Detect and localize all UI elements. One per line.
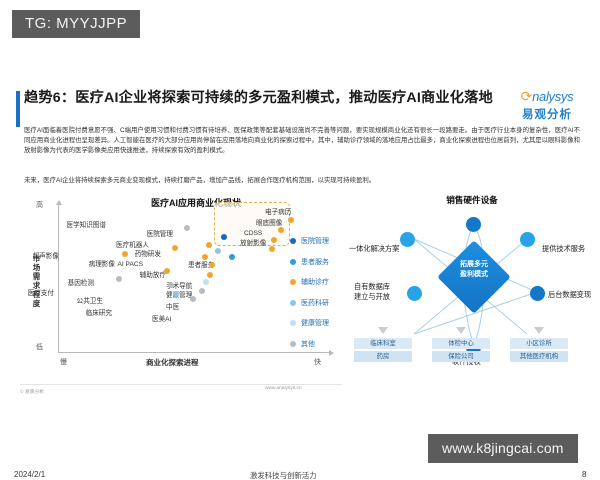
node-tech-service[interactable] (520, 232, 535, 247)
legend-swatch-icon (290, 341, 296, 347)
scatter-point-label: 放射影像 (240, 240, 266, 247)
target-box-2-top[interactable]: 体检中心 (432, 338, 490, 349)
target-box-2-bottom[interactable]: 保险公司 (432, 351, 490, 362)
arrow-down-icon-2 (456, 327, 466, 334)
legend-label: 患者服务 (301, 257, 329, 267)
label-backend-data: 后台数据变现 (548, 290, 591, 299)
target-box-3-top[interactable]: 小区诊所 (510, 338, 568, 349)
chart-divider-rule (20, 384, 342, 385)
scatter-point-label: 超声影像 (18, 253, 59, 260)
x-axis-label: 商业化探索进程 (146, 357, 199, 368)
legend-swatch-icon (290, 238, 296, 244)
center-label-line1: 拓展多元 (448, 260, 500, 270)
center-diamond-label: 拓展多元 盈利模式 (448, 260, 500, 280)
profit-model-diagram: 销售硬件设备 拓展多元 盈利模式 提供技术服务 后台数据变现 软件授权 一体化解… (352, 194, 592, 384)
scatter-point-label: 医院管理 (18, 231, 173, 238)
scatter-point[interactable] (269, 246, 275, 252)
scatter-point[interactable] (207, 272, 213, 278)
legend-item[interactable]: 辅助诊疗 (290, 277, 329, 287)
body-paragraph-1: 医疗AI面临着医院付费意愿不强、C端用户使用习惯和付费习惯有待培养、医保政策等配… (24, 126, 580, 157)
analysys-logo: ⟳nalysys 易观分析 (505, 88, 589, 122)
scatter-point[interactable] (116, 276, 122, 282)
scatter-point-label: 眼底图像 (256, 220, 282, 227)
target-box-1-bottom[interactable]: 药房 (354, 351, 412, 362)
tg-watermark-banner: TG: MYYJJPP (12, 10, 140, 38)
footer-tagline: 激发科技与创新活力 (250, 470, 317, 480)
chart-legend: 医院管理患者服务辅助诊疗医药科研健康管理其他 (290, 236, 329, 359)
scatter-point[interactable] (199, 288, 205, 294)
title-accent-bar (16, 91, 20, 127)
legend-item[interactable]: 患者服务 (290, 257, 329, 267)
footer-date: 2024/2/1 (14, 470, 45, 479)
arrow-down-icon-1 (378, 327, 388, 334)
scatter-point[interactable] (271, 237, 277, 243)
page-title: 趋势6：医疗AI企业将探索可持续的多元盈利模式，推动医疗AI商业化落地 (24, 88, 494, 108)
logo-swirl-icon: ⟳ (521, 88, 532, 104)
legend-item[interactable]: 健康管理 (290, 318, 329, 328)
label-own-database-l1: 自有数据库 (354, 282, 390, 291)
scatter-point[interactable] (229, 254, 235, 260)
scatter-point-label: 中医 (166, 304, 179, 311)
diagram-top-label: 销售硬件设备 (352, 194, 592, 206)
scatter-point[interactable] (190, 296, 196, 302)
arrow-down-icon-3 (534, 327, 544, 334)
scatter-point[interactable] (164, 268, 170, 274)
scatter-point-label: 健康管理 (166, 292, 192, 299)
legend-label: 医院管理 (301, 236, 329, 246)
scatter-point[interactable] (203, 279, 209, 285)
slide-title-wrap: 趋势6：医疗AI企业将探索可持续的多元盈利模式，推动医疗AI商业化落地 (24, 88, 494, 108)
node-backend-data[interactable] (530, 286, 545, 301)
scatter-point-label: CDSS (244, 230, 262, 237)
legend-item[interactable]: 医药科研 (290, 298, 329, 308)
footer-page-number: 8 (582, 470, 586, 479)
label-integrated-solution: 一体化解决方案 (349, 244, 399, 253)
site-watermark-banner: www.k8jingcai.com (428, 434, 578, 463)
legend-label: 辅助诊疗 (301, 277, 329, 287)
logo-brand-en: nalysys (532, 89, 573, 104)
scatter-point-label: 医疗机器人 (18, 242, 149, 249)
scatter-point[interactable] (122, 251, 128, 257)
scatter-point-label: 临床研究 (18, 310, 112, 317)
legend-label: 医药科研 (301, 298, 329, 308)
chart-source-right: www.analysys.cn (265, 386, 302, 391)
scatter-point-label: 医学知识图谱 (18, 222, 106, 229)
chart-source-left: © 易观分析 (20, 388, 44, 395)
x-axis-tick-low: 慢 (60, 357, 67, 367)
slide-page: TG: MYYJJPP 趋势6：医疗AI企业将探索可持续的多元盈利模式，推动医疗… (0, 0, 600, 480)
y-axis-tick-high: 高 (36, 200, 43, 210)
scatter-point[interactable] (206, 242, 212, 248)
scatter-point-label: 基因检测 (18, 280, 94, 287)
scatter-point-label: 公共卫生 (18, 298, 103, 305)
scatter-point[interactable] (184, 225, 190, 231)
node-sell-hardware[interactable] (466, 217, 481, 232)
y-axis-tick-low: 低 (36, 342, 43, 352)
legend-label: 其他 (301, 339, 315, 349)
scatter-point[interactable] (202, 254, 208, 260)
center-label-line2: 盈利模式 (448, 270, 500, 280)
scatter-point[interactable] (172, 245, 178, 251)
label-own-database-l2: 建立与开放 (354, 292, 390, 301)
logo-brand-cn: 易观分析 (505, 106, 589, 122)
commercialization-scatter-chart: 医疗AI应用商业化现状 高 低 慢 快 商业化探索进程 市场需求程度 电子病历眼… (18, 196, 348, 381)
legend-swatch-icon (290, 259, 296, 265)
label-tech-service: 提供技术服务 (542, 244, 585, 253)
presentation-slide: 趋势6：医疗AI企业将探索可持续的多元盈利模式，推动医疗AI商业化落地 ⟳nal… (0, 78, 600, 408)
logo-wordmark: ⟳nalysys (505, 88, 589, 105)
body-paragraph-2: 未来，医疗AI企业将持续探索多元商业变现模式，持续打磨产品，增加产品线，拓展合作… (24, 176, 580, 186)
legend-swatch-icon (290, 279, 296, 285)
node-own-database[interactable] (407, 286, 422, 301)
scatter-point-label: 医疗支付 (18, 290, 54, 297)
node-integrated-solution[interactable] (400, 232, 415, 247)
scatter-point-label: AI PACS (18, 261, 143, 268)
scatter-point-label: 电子病历 (265, 209, 291, 216)
scatter-point[interactable] (278, 227, 284, 233)
target-box-3-bottom[interactable]: 其他医疗机构 (510, 351, 568, 362)
scatter-point[interactable] (215, 248, 221, 254)
legend-item[interactable]: 医院管理 (290, 236, 329, 246)
target-box-1-top[interactable]: 临床科室 (354, 338, 412, 349)
scatter-point-label: 医美AI (152, 316, 171, 323)
legend-label: 健康管理 (301, 318, 329, 328)
scatter-point[interactable] (168, 282, 174, 288)
legend-swatch-icon (290, 320, 296, 326)
scatter-point-label: 辅助放疗 (18, 272, 166, 279)
legend-swatch-icon (290, 300, 296, 306)
scatter-point[interactable] (288, 217, 294, 223)
legend-item[interactable]: 其他 (290, 339, 329, 349)
